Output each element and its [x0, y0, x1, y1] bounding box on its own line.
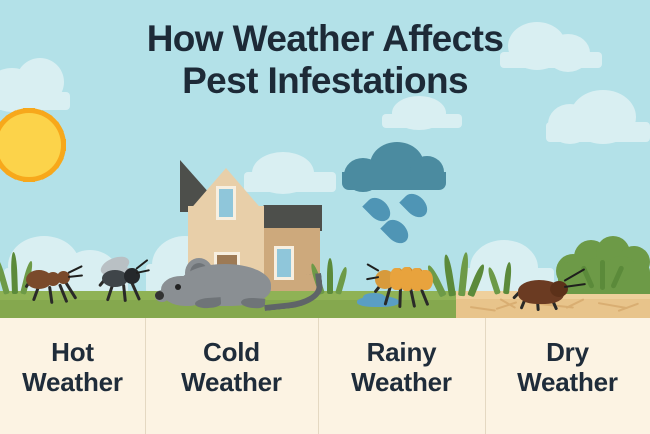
fly-icon	[96, 256, 156, 304]
raindrop-2	[399, 189, 432, 222]
section-label-dry[interactable]: Dry Weather	[485, 318, 650, 434]
mouse-eye	[175, 284, 181, 290]
title-line-1: How Weather Affects	[0, 18, 650, 60]
section-label-cold[interactable]: Cold Weather	[145, 318, 318, 434]
section-label-hot-line1: Hot	[51, 337, 94, 367]
section-label-cold-line2: Weather	[181, 367, 282, 397]
section-label-rainy[interactable]: Rainy Weather	[318, 318, 485, 434]
section-label-cold-line1: Cold	[203, 337, 260, 367]
section-label-dry-line1: Dry	[546, 337, 589, 367]
mouse-nose	[155, 291, 164, 300]
section-label-hot-line2: Weather	[22, 367, 123, 397]
cockroach-icon	[510, 272, 576, 308]
section-label-dry-line2: Weather	[517, 367, 618, 397]
infographic-canvas: How Weather Affects Pest Infestations	[0, 0, 650, 434]
section-label-hot[interactable]: Hot Weather	[0, 318, 145, 434]
ant-icon	[24, 262, 86, 304]
house-window-front	[216, 186, 236, 220]
mouse-icon	[155, 258, 315, 306]
section-label-rainy-line1: Rainy	[367, 337, 437, 367]
rain-cloud-icon	[340, 142, 455, 257]
cockroach-head	[550, 281, 568, 297]
title-line-2: Pest Infestations	[0, 60, 650, 102]
section-label-rainy-line2: Weather	[351, 367, 452, 397]
grass-tuft-transition	[440, 252, 478, 296]
page-title: How Weather Affects Pest Infestations	[0, 18, 650, 102]
larva-icon	[375, 266, 439, 306]
